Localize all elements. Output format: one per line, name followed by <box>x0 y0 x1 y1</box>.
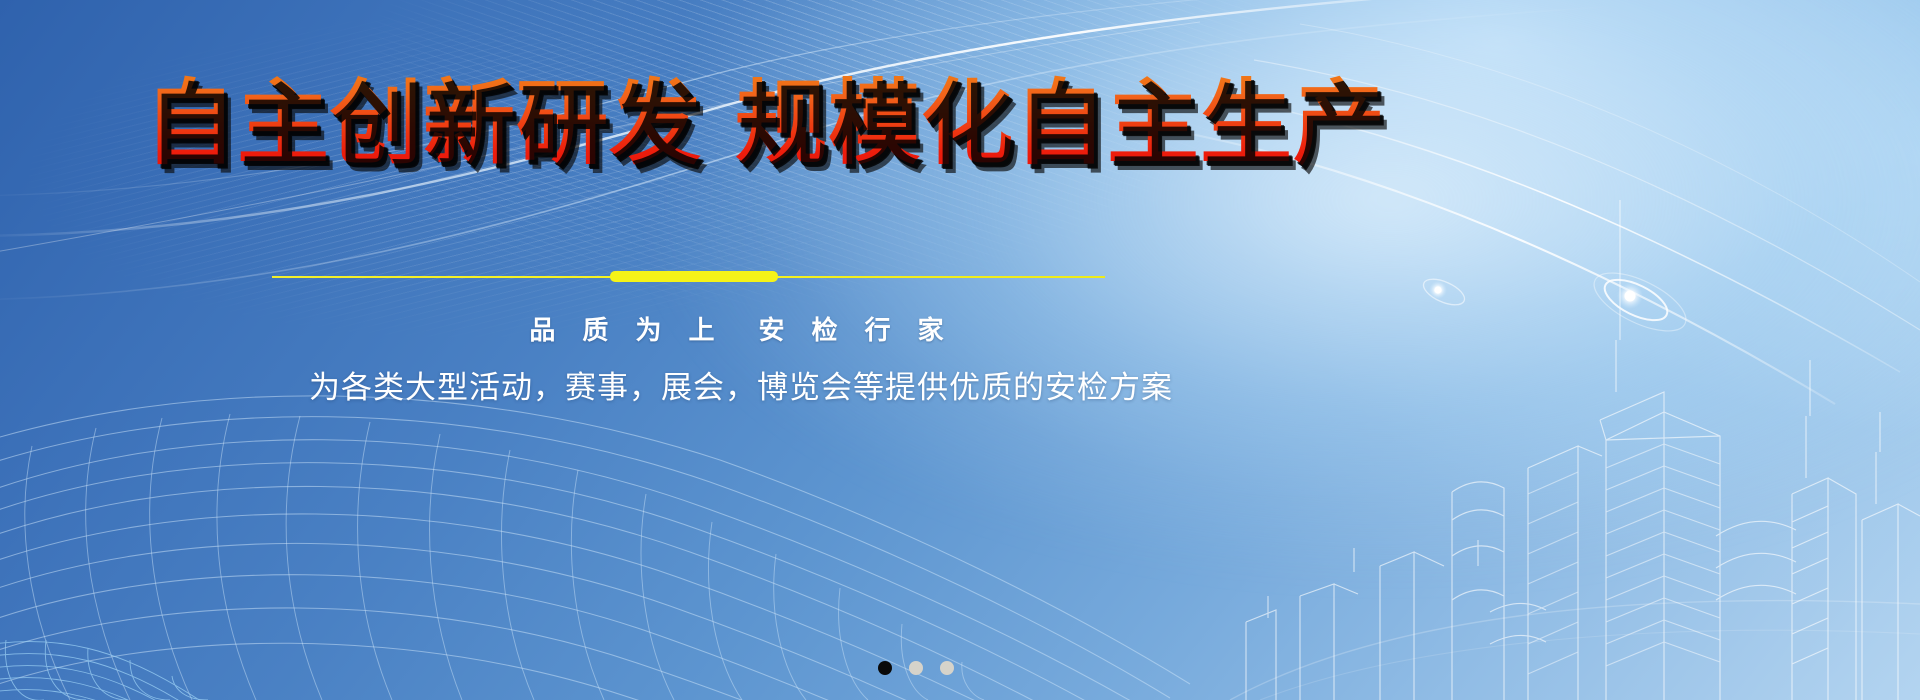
page-title: 自主创新研发 规模化自主生产 <box>0 72 1530 176</box>
divider-knob <box>610 271 778 282</box>
banner-content: 自主创新研发 规模化自主生产 品 质 为 上 安 检 行 家 为各类大型活动，赛… <box>0 0 1920 700</box>
hero-banner: 自主创新研发 规模化自主生产 品 质 为 上 安 检 行 家 为各类大型活动，赛… <box>0 0 1920 700</box>
carousel-dot-1[interactable] <box>878 661 892 675</box>
carousel-indicators[interactable] <box>878 661 954 675</box>
title-divider <box>272 275 1105 278</box>
carousel-dot-2[interactable] <box>909 661 923 675</box>
banner-tagline: 品 质 为 上 安 检 行 家 <box>0 310 1482 347</box>
banner-description: 为各类大型活动，赛事，展会，博览会等提供优质的安检方案 <box>0 362 1482 407</box>
carousel-dot-3[interactable] <box>940 661 954 675</box>
